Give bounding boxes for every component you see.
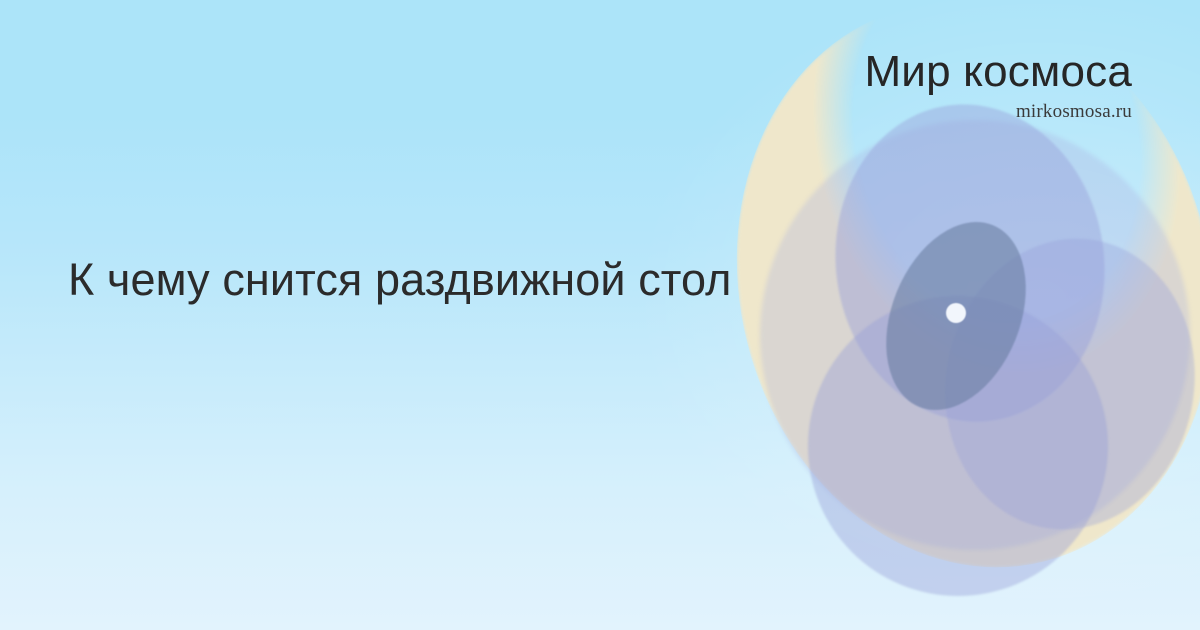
site-branding: Мир космоса mirkosmosa.ru (864, 50, 1132, 121)
page-title: К чему снится раздвижной стол (68, 254, 732, 306)
lower-lavender-ellipse (808, 296, 1108, 596)
site-url: mirkosmosa.ru (864, 102, 1132, 121)
right-lavender-ellipse (923, 219, 1200, 550)
core-white-dot (946, 303, 966, 323)
faint-lavender-disc (760, 120, 1190, 550)
core-gray-blue-ellipse (860, 201, 1052, 431)
upper-lavender-ellipse (815, 87, 1125, 439)
site-name: Мир космоса (864, 50, 1132, 94)
social-card: Мир космоса mirkosmosa.ru К чему снится … (0, 0, 1200, 630)
